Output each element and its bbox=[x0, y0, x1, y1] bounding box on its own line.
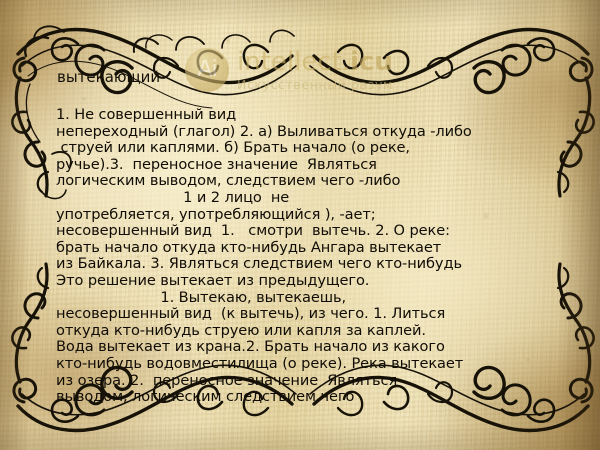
text-line: 1. Не совершенный вид bbox=[56, 107, 596, 124]
watermark: Ai intellect.icu Искусственный разум bbox=[185, 48, 393, 92]
watermark-logo-text: Ai bbox=[197, 59, 216, 81]
text-line: из озера. 2. переносное значение Являтьс… bbox=[56, 373, 596, 390]
watermark-brand-second: icu bbox=[350, 47, 393, 77]
watermark-text-block: intellect.icu Искусственный разум bbox=[237, 49, 393, 90]
text-line: употребляется, употребляющийся ), -ает; bbox=[56, 207, 596, 224]
text-line: Вода вытекает из крана.2. Брать начало и… bbox=[56, 339, 596, 356]
text-line: несовершенный вид (к вытечь), из чего. 1… bbox=[56, 306, 596, 323]
text-line: откуда кто-нибудь струею или капля за ка… bbox=[56, 323, 596, 340]
text-line: несовершенный вид 1. смотри вытечь. 2. О… bbox=[56, 223, 596, 240]
text-line: 1 и 2 лицо не bbox=[56, 190, 596, 207]
presentation-slide: Ai intellect.icu Искусственный разум выт… bbox=[0, 0, 600, 450]
text-line: струей или каплями. б) Брать начало (о р… bbox=[56, 140, 596, 157]
page-title: вытекающий bbox=[57, 68, 160, 86]
text-line: 1. Вытекаю, вытекаешь, bbox=[56, 290, 596, 307]
watermark-tagline: Искусственный разум bbox=[237, 78, 393, 91]
watermark-logo-icon: Ai bbox=[185, 48, 229, 92]
text-line: брать начало откуда кто-нибудь Ангара вы… bbox=[56, 240, 596, 257]
definition-text-block: 1. Не совершенный вид непереходный (глаг… bbox=[56, 107, 596, 406]
text-line: выводом, логическим следствием чего bbox=[56, 389, 596, 406]
text-line: ручье).3. переносное значение Являться bbox=[56, 157, 596, 174]
text-line: из Байкала. 3. Являться следствием чего … bbox=[56, 256, 596, 273]
text-line: непереходный (глагол) 2. а) Выливаться о… bbox=[56, 124, 596, 141]
text-line: кто-нибудь водовместилища (о реке). Река… bbox=[56, 356, 596, 373]
watermark-brand-first: intellect. bbox=[237, 47, 350, 77]
text-line: логическим выводом, следствием чего -либ… bbox=[56, 173, 596, 190]
text-line: Это решение вытекает из предыдущего. bbox=[56, 273, 596, 290]
watermark-brand: intellect.icu bbox=[237, 49, 393, 76]
